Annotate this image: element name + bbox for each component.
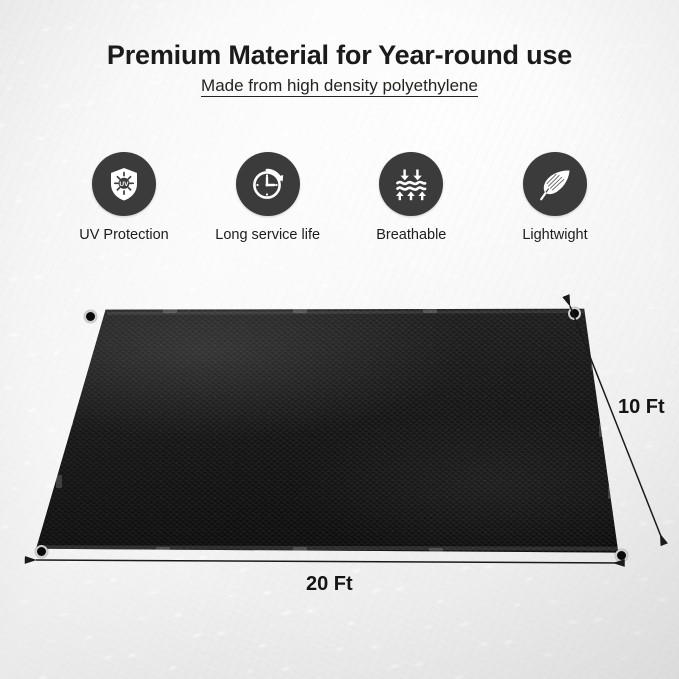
width-dimension-arrow xyxy=(36,560,624,563)
product-infographic: Premium Material for Year-round use Made… xyxy=(0,0,679,679)
width-dimension-label: 20 Ft xyxy=(306,573,353,596)
height-dimension-label: 10 Ft xyxy=(618,396,665,419)
height-dimension-arrow xyxy=(570,306,664,544)
dimension-annotations: 20 Ft 10 Ft xyxy=(0,0,679,679)
